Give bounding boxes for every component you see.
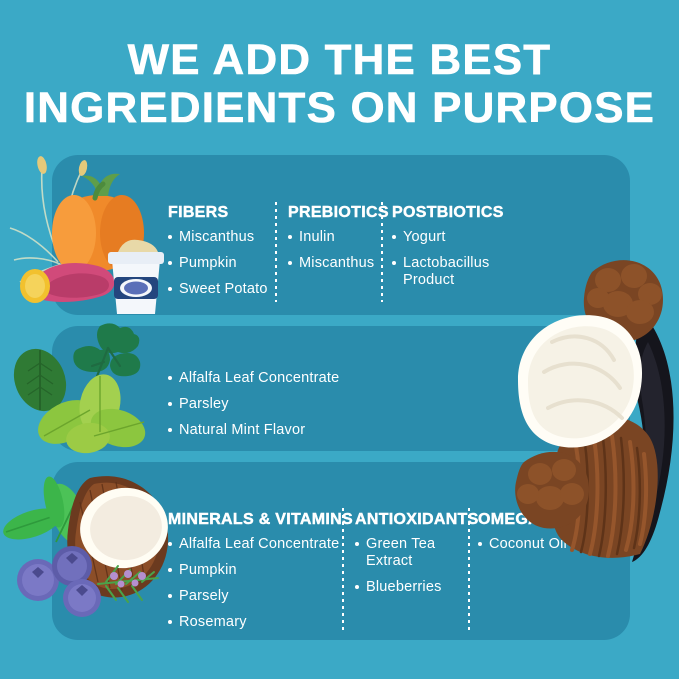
breath-list: Alfalfa Leaf Concentrate Parsley Natural… [168,370,468,439]
list-item: Parsely [168,588,338,605]
column-antioxidants-list: Green Tea Extract Blueberries [355,536,460,596]
list-item: Lactobacillus Product [392,255,500,289]
divider-fibers-prebiotics [275,202,277,302]
infographic-page: WE ADD THE BEST INGREDIENTS ON PURPOSE G… [0,0,679,679]
column-breath-items: Alfalfa Leaf Concentrate Parsley Natural… [168,370,468,448]
column-omega-fatty-acids-list: Coconut Oil [478,536,623,553]
column-postbiotics-heading: POSTBIOTICS [392,204,500,222]
column-antioxidants: ANTIOXIDANTS Green Tea Extract Blueberri… [355,511,460,605]
column-prebiotics-heading: PREBIOTICS [288,204,378,222]
list-item: Sweet Potato [168,281,273,298]
divider-minerals-antioxidants [342,508,344,630]
divider-antioxidants-omega [468,508,470,630]
divider-prebiotics-postbiotics [381,202,383,302]
list-item: Parsley [168,396,468,413]
list-item: Blueberries [355,579,460,596]
list-item: Yogurt [392,229,500,246]
column-minerals-vitamins: MINERALS & VITAMINS Alfalfa Leaf Concent… [168,511,338,640]
column-fibers: FIBERS Miscanthus Pumpkin Sweet Potato [168,204,273,307]
column-omega-fatty-acids: OMEGA FATTY ACIDS Coconut Oil [478,511,623,562]
list-item: Pumpkin [168,255,273,272]
column-omega-fatty-acids-heading: OMEGA FATTY ACIDS [478,511,623,529]
page-title-line-2: INGREDIENTS ON PURPOSE [0,84,679,132]
list-item: Miscanthus [168,229,273,246]
column-antioxidants-heading: ANTIOXIDANTS [355,511,460,529]
column-fibers-list: Miscanthus Pumpkin Sweet Potato [168,229,273,298]
column-fibers-heading: FIBERS [168,204,273,222]
column-prebiotics-list: Inulin Miscanthus [288,229,378,272]
list-item: Pumpkin [168,562,338,579]
list-item: Alfalfa Leaf Concentrate [168,370,468,387]
list-item: Natural Mint Flavor [168,422,468,439]
column-postbiotics-list: Yogurt Lactobacillus Product [392,229,500,289]
list-item: Inulin [288,229,378,246]
page-title-line-1: WE ADD THE BEST [0,36,679,84]
column-postbiotics: POSTBIOTICS Yogurt Lactobacillus Product [392,204,500,298]
list-item: Coconut Oil [478,536,623,553]
list-item: Rosemary [168,614,338,631]
page-title: WE ADD THE BEST INGREDIENTS ON PURPOSE [0,36,679,132]
list-item: Alfalfa Leaf Concentrate [168,536,338,553]
column-prebiotics: PREBIOTICS Inulin Miscanthus [288,204,378,281]
column-minerals-vitamins-heading: MINERALS & VITAMINS [168,511,338,529]
list-item: Green Tea Extract [355,536,460,570]
column-minerals-vitamins-list: Alfalfa Leaf Concentrate Pumpkin Parsely… [168,536,338,631]
list-item: Miscanthus [288,255,378,272]
